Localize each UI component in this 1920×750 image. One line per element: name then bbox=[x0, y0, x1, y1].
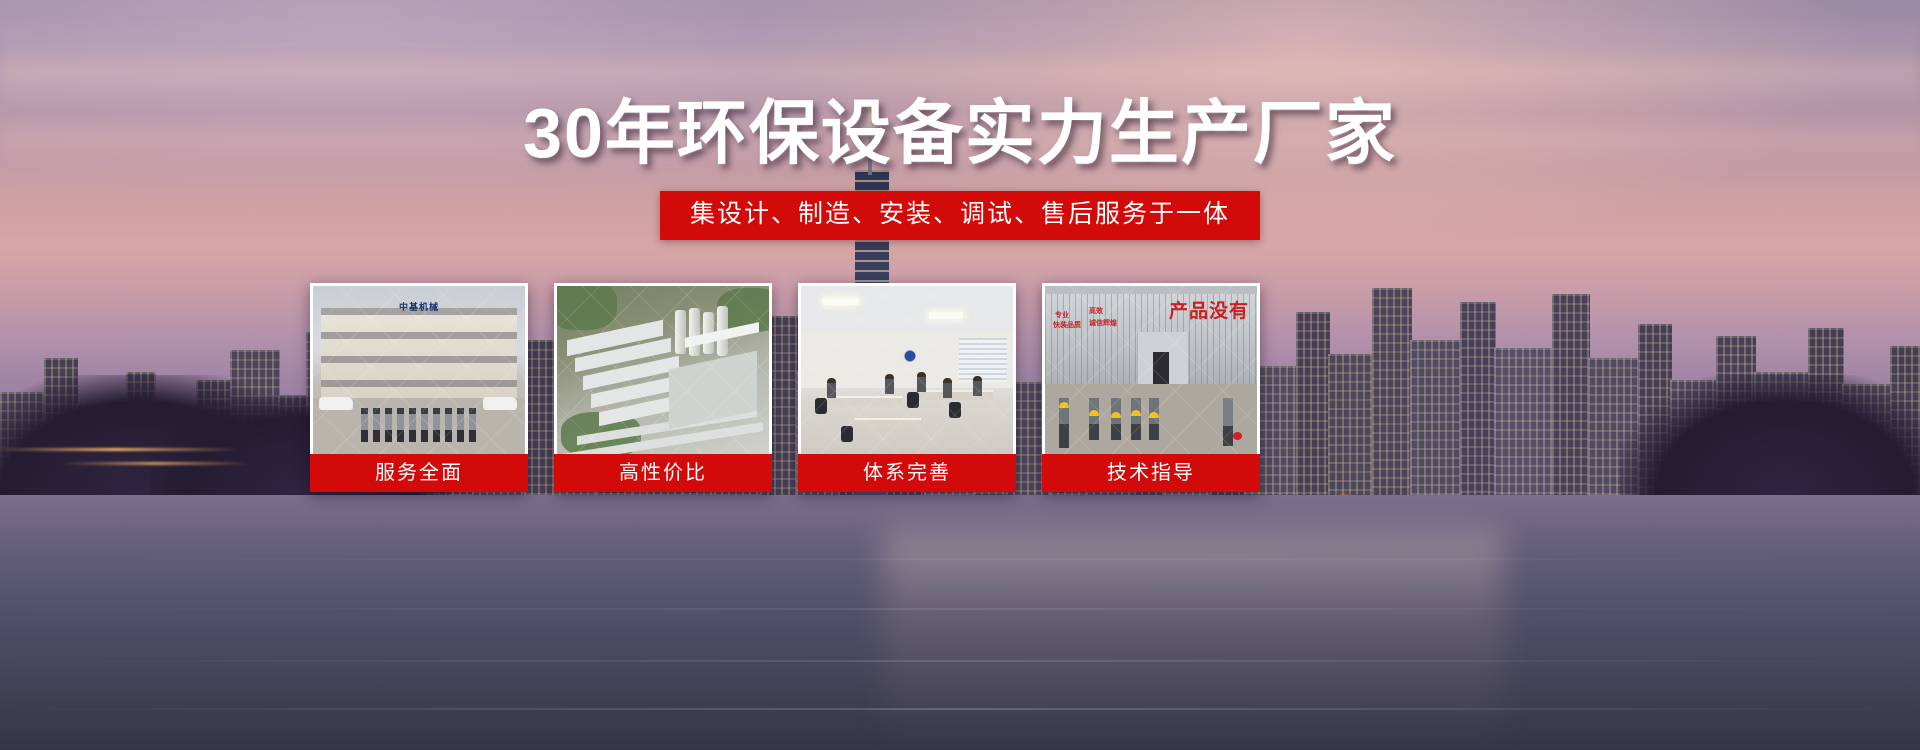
card-photo-factory-yard: 产品没有 专业 高效 快装品质 诚信辉煌 bbox=[1045, 286, 1257, 454]
hero-banner: 30年环保设备实力生产厂家 集设计、制造、安装、调试、售后服务于一体 中基机械 bbox=[0, 0, 1920, 750]
card-photo-headquarters: 中基机械 bbox=[313, 286, 525, 454]
feature-card-system[interactable]: 体系完善 bbox=[798, 283, 1016, 492]
feature-cards: 中基机械 服务全面 bbox=[310, 283, 1260, 492]
feature-card-value[interactable]: 高性价比 bbox=[554, 283, 772, 492]
feature-card-technical[interactable]: 产品没有 专业 高效 快装品质 诚信辉煌 bbox=[1042, 283, 1260, 492]
card-photo-office bbox=[801, 286, 1013, 454]
subtitle-banner: 集设计、制造、安装、调试、售后服务于一体 bbox=[660, 191, 1260, 240]
card-label-technical: 技术指导 bbox=[1042, 454, 1260, 492]
feature-card-service[interactable]: 中基机械 服务全面 bbox=[310, 283, 528, 492]
river-water bbox=[0, 495, 1920, 750]
card-label-service: 服务全面 bbox=[310, 454, 528, 492]
page-title: 30年环保设备实力生产厂家 bbox=[0, 98, 1920, 168]
card-photo-plant-aerial bbox=[557, 286, 769, 454]
subtitle-container: 集设计、制造、安装、调试、售后服务于一体 bbox=[0, 191, 1920, 240]
card-label-system: 体系完善 bbox=[798, 454, 1016, 492]
card-label-value: 高性价比 bbox=[554, 454, 772, 492]
